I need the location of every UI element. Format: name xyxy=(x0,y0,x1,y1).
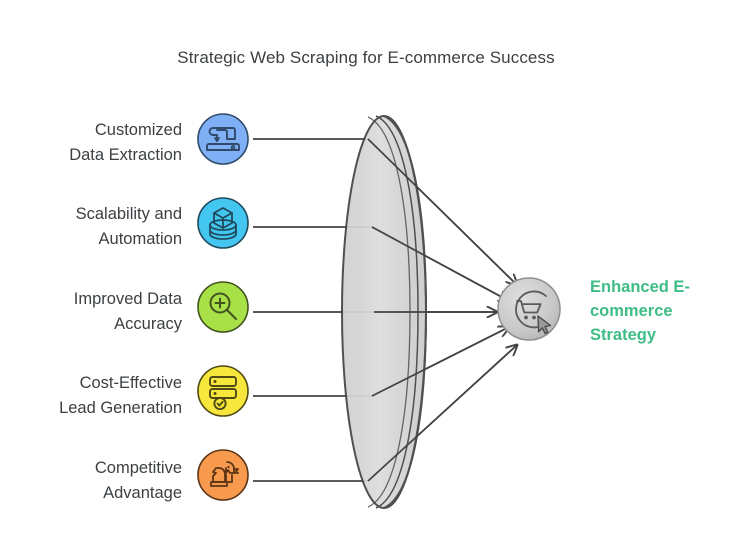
feature-label-2-line2: Automation xyxy=(22,227,182,252)
feature-icon-5[interactable] xyxy=(197,449,249,501)
feature-label-5-line2: Advantage xyxy=(22,481,182,506)
box-database-scalability-icon xyxy=(197,197,249,249)
feature-label-4-line1: Cost-Effective xyxy=(22,371,182,396)
outcome-label-line3: Strategy xyxy=(590,323,710,347)
feature-label-3: Improved Data Accuracy xyxy=(22,287,182,337)
data-extraction-machine-icon xyxy=(197,113,249,165)
feature-label-2: Scalability and Automation xyxy=(22,202,182,252)
feature-label-4: Cost-Effective Lead Generation xyxy=(22,371,182,421)
feature-icon-2[interactable] xyxy=(197,197,249,249)
outcome-label-line2: commerce xyxy=(590,299,710,323)
outcome-label: Enhanced E- commerce Strategy xyxy=(590,275,710,347)
feature-label-1: Customized Data Extraction xyxy=(22,118,182,168)
magnifier-zoom-in-icon xyxy=(197,281,249,333)
feature-label-1-line1: Customized xyxy=(22,118,182,143)
diagram-canvas: Strategic Web Scraping for E-commerce Su… xyxy=(0,0,732,558)
feature-label-5: Competitive Advantage xyxy=(22,456,182,506)
feature-label-4-line2: Lead Generation xyxy=(22,396,182,421)
feature-label-1-line2: Data Extraction xyxy=(22,143,182,168)
chess-knight-strategy-icon xyxy=(197,449,249,501)
feature-icon-1[interactable] xyxy=(197,113,249,165)
feature-icon-4[interactable] xyxy=(197,365,249,417)
feature-icon-3[interactable] xyxy=(197,281,249,333)
outcome-label-line1: Enhanced E- xyxy=(590,275,710,299)
feature-label-3-line1: Improved Data xyxy=(22,287,182,312)
feature-label-3-line2: Accuracy xyxy=(22,312,182,337)
server-stack-check-icon xyxy=(197,365,249,417)
outcome-node[interactable] xyxy=(498,278,560,340)
feature-label-5-line1: Competitive xyxy=(22,456,182,481)
feature-label-2-line1: Scalability and xyxy=(22,202,182,227)
